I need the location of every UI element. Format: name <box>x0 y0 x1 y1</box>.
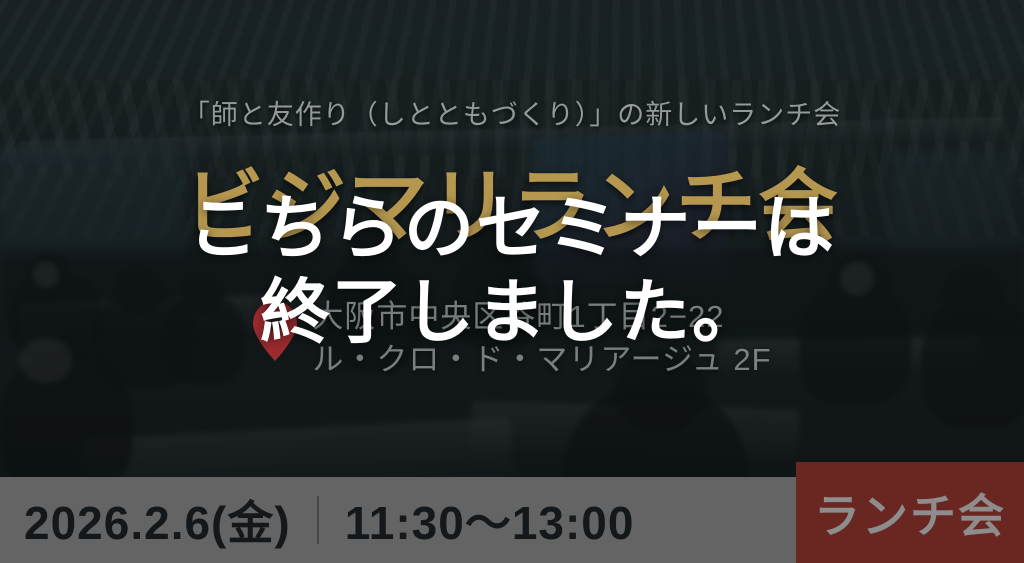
banner-subtitle: 「師と友作り（しとともづくり）」の新しいランチ会 <box>0 93 1024 132</box>
event-date: 2026.2.6(金) <box>24 487 291 553</box>
venue-address-line-2: ル・クロ・ド・マリアージュ 2F <box>312 342 771 377</box>
banner-main-title: ビジマリランチ会 <box>0 168 1024 248</box>
event-banner: 「師と友作り（しとともづくり）」の新しいランチ会 ビジマリランチ会 大阪市中央区… <box>0 0 1024 563</box>
venue-address: 大阪市中央区谷町1丁目2−22 ル・クロ・ド・マリアージュ 2F <box>312 296 771 382</box>
schedule-divider <box>317 496 319 544</box>
location-pin-icon <box>252 300 298 367</box>
event-time: 11:30〜13:00 <box>345 487 635 553</box>
schedule-text: 2026.2.6(金) 11:30〜13:00 <box>0 487 634 553</box>
venue-block: 大阪市中央区谷町1丁目2−22 ル・クロ・ド・マリアージュ 2F <box>0 296 1024 382</box>
event-category-badge: ランチ会 <box>796 462 1024 563</box>
venue-address-line-1: 大阪市中央区谷町1丁目2−22 <box>312 299 724 334</box>
